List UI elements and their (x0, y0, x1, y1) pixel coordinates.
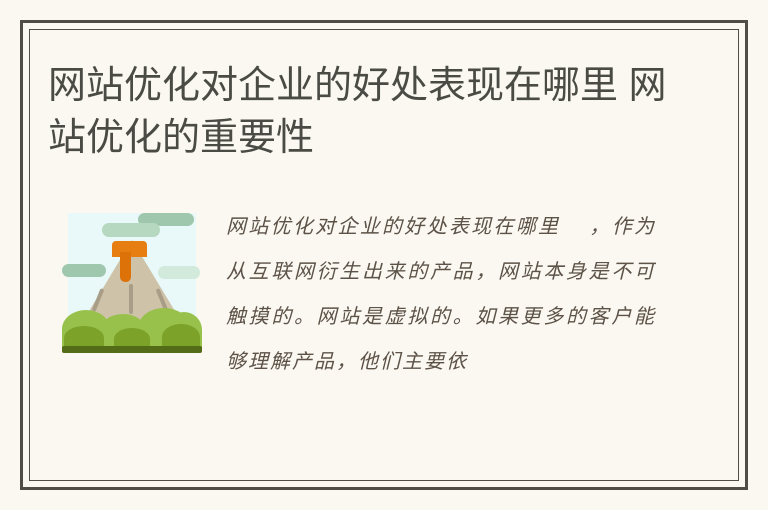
volcano-illustration-icon (62, 208, 202, 360)
article-body-section: 网站优化对企业的好处表现在哪里 ，作为从互联网衍生出来的产品，网站本身是不可触摸… (48, 205, 708, 455)
lava-flow-icon (120, 252, 131, 282)
ground-bar (62, 346, 202, 353)
cloud-icon (158, 266, 200, 279)
article-body-text: 网站优化对企业的好处表现在哪里 ，作为从互联网衍生出来的产品，网站本身是不可触摸… (226, 205, 656, 385)
article-card: 网站优化对企业的好处表现在哪里 网站优化的重要性 (0, 0, 768, 510)
cloud-icon (102, 223, 160, 237)
cloud-icon (62, 264, 106, 277)
page-title: 网站优化对企业的好处表现在哪里 网站优化的重要性 (48, 60, 688, 164)
mountain-streak (129, 284, 133, 314)
card-content: 网站优化对企业的好处表现在哪里 网站优化的重要性 (0, 0, 768, 510)
